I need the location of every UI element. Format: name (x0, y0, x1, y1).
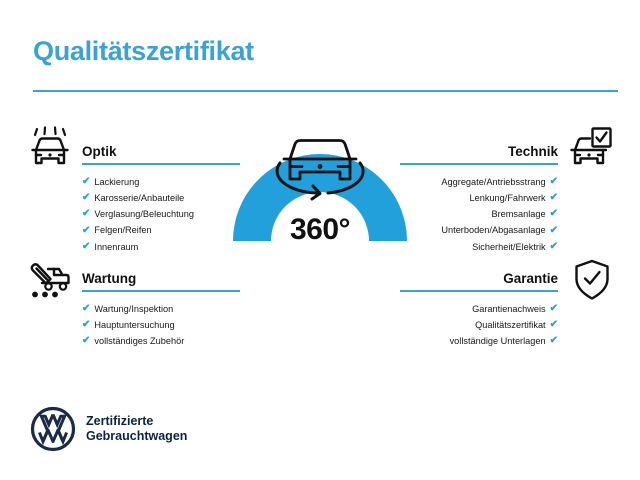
list-item: Unterboden/Abgasanlage✔ (400, 222, 558, 238)
list-item-label: Karosserie/Anbauteile (94, 190, 184, 206)
title-divider (33, 90, 618, 92)
list-item-label: Innenraum (94, 239, 138, 255)
list-item-label: Verglasung/Beleuchtung (94, 206, 194, 222)
checklist-wartung: ✔Wartung/Inspektion ✔Hauptuntersuchung ✔… (82, 301, 240, 350)
list-item-label: Unterboden/Abgasanlage (441, 222, 545, 238)
check-icon: ✔ (550, 336, 558, 346)
list-item-label: Garantienachweis (472, 301, 546, 317)
car-wrench-icon (26, 258, 74, 302)
list-item-label: Bremsanlage (491, 206, 545, 222)
check-icon: ✔ (550, 193, 558, 203)
list-item: ✔Verglasung/Beleuchtung (82, 206, 240, 222)
check-icon: ✔ (82, 304, 90, 314)
list-item: Garantienachweis✔ (400, 301, 558, 317)
check-icon: ✔ (82, 242, 90, 252)
shield-check-icon (572, 258, 612, 302)
list-item: Sicherheit/Elektrik✔ (400, 239, 558, 255)
vw-logo (30, 406, 76, 452)
check-icon: ✔ (82, 209, 90, 219)
footer-line-1: Zertifizierte (86, 414, 153, 428)
list-item-label: vollständige Unterlagen (450, 333, 546, 349)
section-divider-wartung (82, 290, 240, 292)
list-item: Aggregate/Antriebsstrang✔ (400, 174, 558, 190)
section-heading-technik: Technik (400, 144, 558, 160)
check-icon: ✔ (82, 320, 90, 330)
check-icon: ✔ (550, 177, 558, 187)
badge-arc-label: Gebrauchtwagen-Check (248, 243, 392, 314)
checklist-optik: ✔Lackierung ✔Karosserie/Anbauteile ✔Verg… (82, 174, 240, 255)
list-item: ✔Karosserie/Anbauteile (82, 190, 240, 206)
section-garantie: Garantie Garantienachweis✔ Qualitätszert… (400, 271, 558, 349)
section-wartung: Wartung ✔Wartung/Inspektion ✔Hauptunters… (82, 271, 240, 349)
list-item: ✔Lackierung (82, 174, 240, 190)
list-item: Qualitätszertifikat✔ (400, 317, 558, 333)
list-item-label: Aggregate/Antriebsstrang (441, 174, 545, 190)
checklist-garantie: Garantienachweis✔ Qualitätszertifikat✔ v… (400, 301, 558, 350)
list-item: ✔Wartung/Inspektion (82, 301, 240, 317)
list-item: ✔Hauptuntersuchung (82, 317, 240, 333)
check-icon: ✔ (550, 242, 558, 252)
section-divider-technik (400, 163, 558, 165)
check-icon: ✔ (550, 304, 558, 314)
badge-360-gebrauchtwagen-check: Gebrauchtwagen-Check 360° (228, 117, 412, 317)
list-item-label: Lackierung (94, 174, 139, 190)
car-shine-icon (26, 126, 74, 170)
check-icon: ✔ (550, 320, 558, 330)
check-icon: ✔ (82, 226, 90, 236)
checklist-technik: Aggregate/Antriebsstrang✔ Lenkung/Fahrwe… (400, 174, 558, 255)
page-title: Qualitätszertifikat (33, 36, 254, 67)
footer-brand: Zertifizierte Gebrauchtwagen (30, 406, 187, 452)
list-item: Lenkung/Fahrwerk✔ (400, 190, 558, 206)
section-optik: Optik ✔Lackierung ✔Karosserie/Anbauteile… (82, 144, 240, 255)
check-icon: ✔ (550, 209, 558, 219)
list-item-label: vollständiges Zubehör (94, 333, 184, 349)
section-divider-optik (82, 163, 240, 165)
footer-line-2: Gebrauchtwagen (86, 429, 187, 443)
list-item-label: Lenkung/Fahrwerk (470, 190, 546, 206)
check-icon: ✔ (82, 336, 90, 346)
list-item-label: Sicherheit/Elektrik (472, 239, 546, 255)
section-heading-garantie: Garantie (400, 271, 558, 287)
list-item: ✔Innenraum (82, 239, 240, 255)
list-item: vollständige Unterlagen✔ (400, 333, 558, 349)
section-divider-garantie (400, 290, 558, 292)
section-technik: Technik Aggregate/Antriebsstrang✔ Lenkun… (400, 144, 558, 255)
list-item: Bremsanlage✔ (400, 206, 558, 222)
svg-text:Gebrauchtwagen-Check: Gebrauchtwagen-Check (248, 243, 392, 314)
footer-text: Zertifizierte Gebrauchtwagen (86, 414, 187, 444)
list-item: ✔vollständiges Zubehör (82, 333, 240, 349)
section-heading-optik: Optik (82, 144, 240, 160)
section-heading-wartung: Wartung (82, 271, 240, 287)
badge-center-label: 360° (228, 213, 412, 247)
check-icon: ✔ (82, 193, 90, 203)
check-icon: ✔ (82, 177, 90, 187)
list-item-label: Felgen/Reifen (94, 222, 151, 238)
list-item-label: Hauptuntersuchung (94, 317, 174, 333)
list-item-label: Qualitätszertifikat (475, 317, 545, 333)
car-checkbox-icon (566, 126, 614, 170)
list-item: ✔Felgen/Reifen (82, 222, 240, 238)
list-item-label: Wartung/Inspektion (94, 301, 173, 317)
check-icon: ✔ (550, 226, 558, 236)
